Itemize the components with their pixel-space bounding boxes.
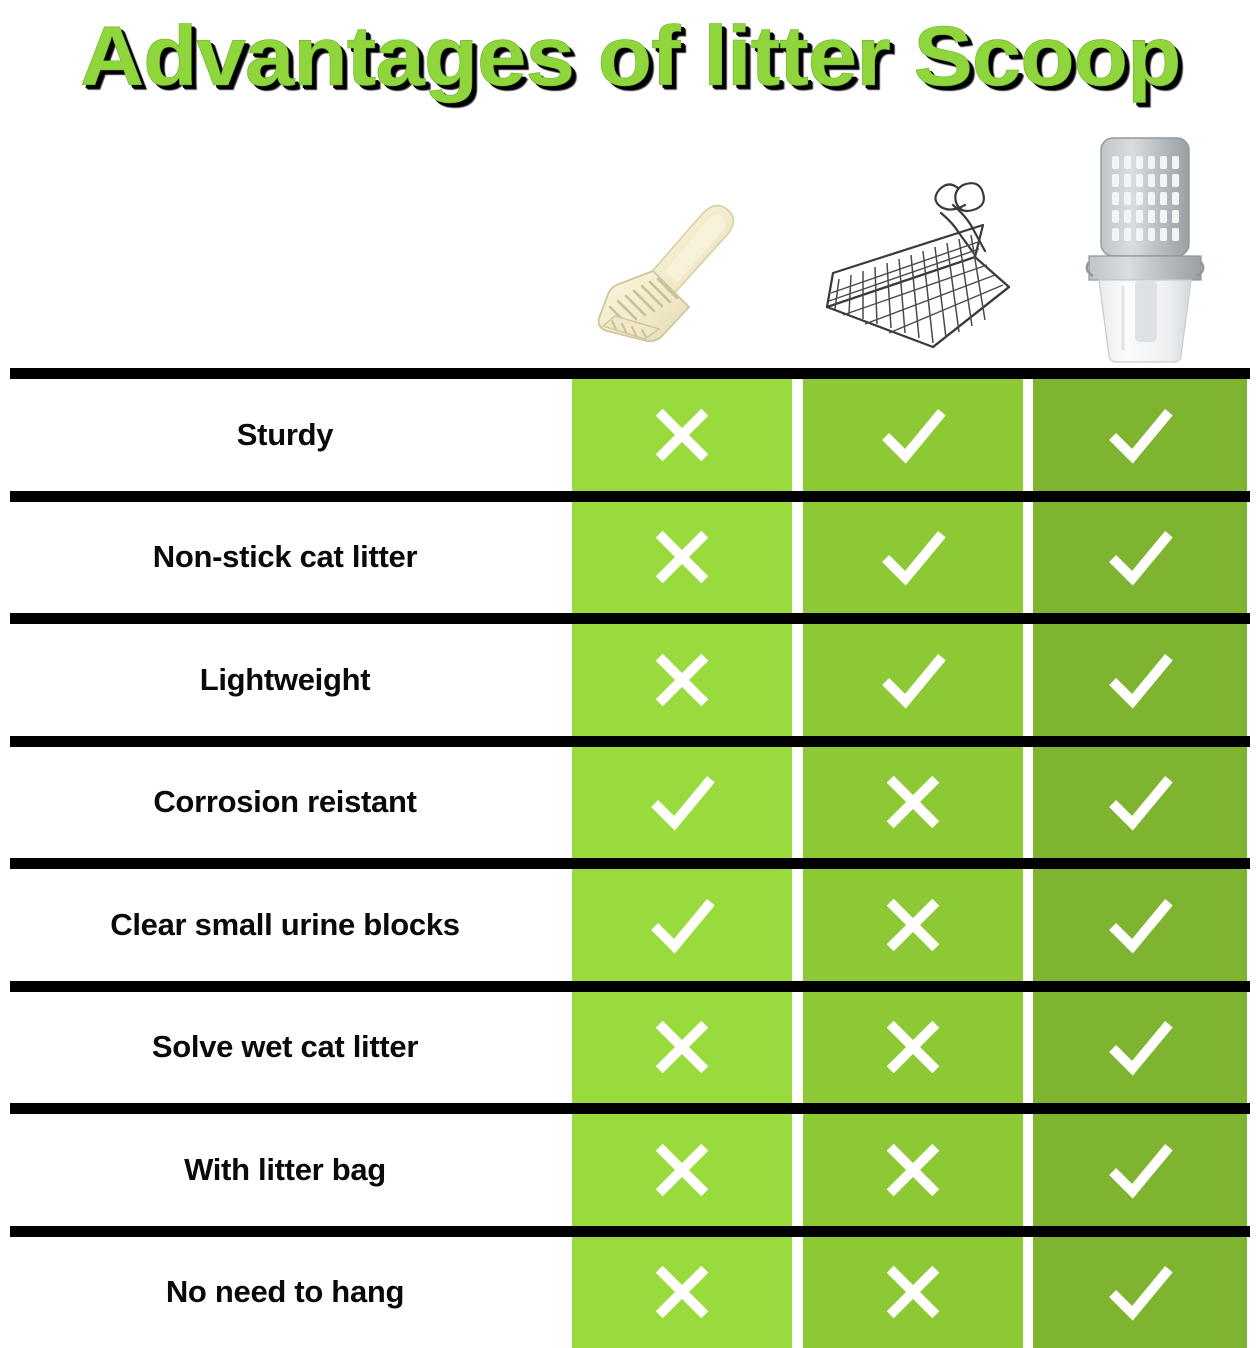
feature-label: Lightweight [0,624,570,736]
table-row: Lightweight [0,613,1260,736]
feature-cell-supported [1033,1114,1247,1226]
feature-label: With litter bag [0,1114,570,1226]
row-body: No need to hang [0,1237,1260,1348]
metal-wire-litter-scoop-icon [813,169,1018,364]
litter-scoop-with-bag-holder-icon [1075,134,1215,364]
product-column-header-3 [1032,130,1258,368]
check-icon [875,642,951,718]
plastic-litter-scoop-icon [585,179,785,364]
row-body: Clear small urine blocks [0,869,1260,981]
cross-icon [644,642,720,718]
check-icon [644,887,720,963]
cross-icon [644,519,720,595]
feature-cell-not-supported [572,502,792,614]
table-row: No need to hang [0,1226,1260,1348]
row-body: Lightweight [0,624,1260,736]
cross-icon [644,1009,720,1085]
cross-icon [644,1132,720,1208]
row-divider [10,1103,1250,1114]
feature-label: Non-stick cat litter [0,502,570,614]
cross-icon [875,764,951,840]
feature-cell-not-supported [572,379,792,491]
feature-cell-not-supported [572,992,792,1104]
row-divider [10,981,1250,992]
feature-cell-not-supported [803,747,1023,859]
row-body: Sturdy [0,379,1260,491]
page-title-banner: Advantages of litter Scoop [0,0,1260,112]
cross-icon [644,1254,720,1330]
feature-cell-supported [803,379,1023,491]
feature-cell-not-supported [803,869,1023,981]
cross-icon [875,1254,951,1330]
feature-cell-not-supported [572,624,792,736]
cross-icon [875,1009,951,1085]
row-divider [10,613,1250,624]
feature-cell-supported [1033,502,1247,614]
feature-cell-supported [1033,992,1247,1104]
cross-icon [644,397,720,473]
cross-icon [875,887,951,963]
table-row: Clear small urine blocks [0,858,1260,981]
comparison-table: SturdyNon-stick cat litterLightweightCor… [0,368,1260,1348]
feature-cell-not-supported [572,1114,792,1226]
table-row: Sturdy [0,368,1260,491]
feature-cell-not-supported [803,1237,1023,1348]
check-icon [875,519,951,595]
product-column-header-1 [572,130,798,368]
row-body: Non-stick cat litter [0,502,1260,614]
feature-cell-supported [1033,624,1247,736]
check-icon [1102,1009,1178,1085]
row-divider [10,858,1250,869]
feature-cell-not-supported [803,1114,1023,1226]
feature-label: Solve wet cat litter [0,992,570,1104]
page-title: Advantages of litter Scoop [80,13,1180,99]
check-icon [1102,397,1178,473]
feature-cell-not-supported [572,1237,792,1348]
check-icon [1102,642,1178,718]
row-body: Corrosion reistant [0,747,1260,859]
feature-cell-supported [1033,747,1247,859]
feature-cell-supported [1033,869,1247,981]
table-row: Non-stick cat litter [0,491,1260,614]
check-icon [1102,519,1178,595]
row-body: Solve wet cat litter [0,992,1260,1104]
feature-cell-not-supported [803,992,1023,1104]
check-icon [1102,887,1178,963]
row-divider [10,736,1250,747]
row-divider [10,1226,1250,1237]
product-column-header-2 [802,130,1028,368]
feature-cell-supported [803,502,1023,614]
feature-cell-supported [572,747,792,859]
feature-cell-supported [1033,379,1247,491]
check-icon [1102,1254,1178,1330]
feature-cell-supported [803,624,1023,736]
feature-label: Clear small urine blocks [0,869,570,981]
row-body: With litter bag [0,1114,1260,1226]
product-header-row [572,130,1250,368]
check-icon [1102,1132,1178,1208]
table-row: Solve wet cat litter [0,981,1260,1104]
feature-cell-supported [572,869,792,981]
row-divider [10,368,1250,379]
cross-icon [875,1132,951,1208]
check-icon [875,397,951,473]
row-divider [10,491,1250,502]
table-row: With litter bag [0,1103,1260,1226]
check-icon [644,764,720,840]
feature-label: No need to hang [0,1237,570,1348]
feature-label: Corrosion reistant [0,747,570,859]
table-row: Corrosion reistant [0,736,1260,859]
feature-cell-supported [1033,1237,1247,1348]
feature-label: Sturdy [0,379,570,491]
check-icon [1102,764,1178,840]
